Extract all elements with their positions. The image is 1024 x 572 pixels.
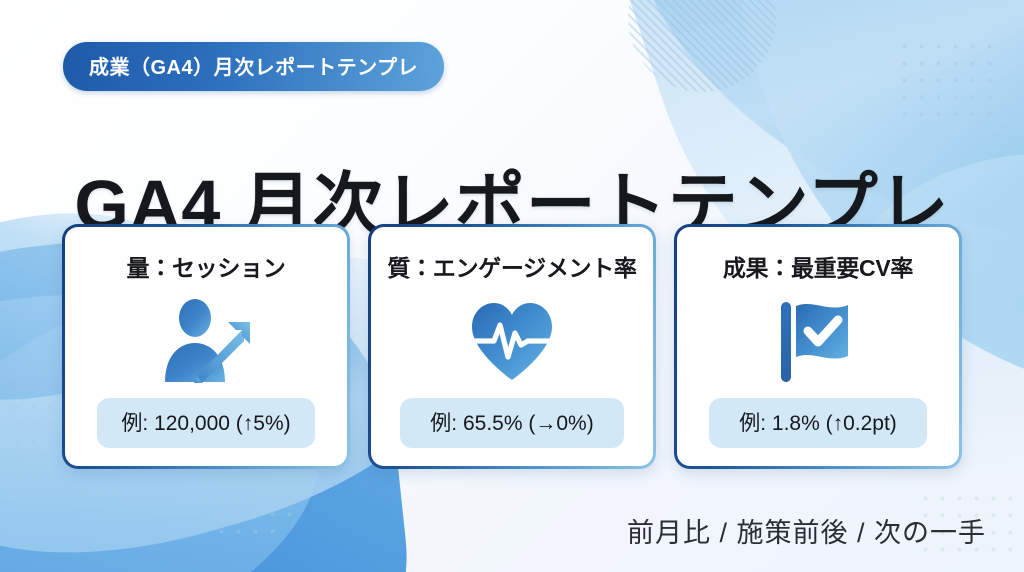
metric-card-value: 例: 120,000 (↑5%) [97, 398, 315, 448]
striped-circle-decoration [628, 0, 776, 92]
category-badge: 成業（GA4）月次レポートテンプレ [63, 42, 444, 91]
metric-card-body: 質：エンゲージメント率 例: 65.5 [371, 227, 653, 466]
metric-card-body: 成果：最重要CV率 [677, 227, 959, 466]
metric-card-value: 例: 1.8% (↑0.2pt) [709, 398, 927, 448]
dot-grid-top-right [896, 38, 996, 128]
metric-card-engagement[interactable]: 質：エンゲージメント率 例: 65.5 [368, 224, 656, 469]
metric-card-value: 例: 65.5% (→0%) [400, 398, 624, 448]
metric-card-title: 量：セッション [127, 249, 286, 283]
metric-card-body: 量：セッション [65, 227, 347, 466]
metric-card-row: 量：セッション [62, 224, 962, 469]
metric-card-cv-rate[interactable]: 成果：最重要CV率 [674, 224, 962, 469]
metric-card-sessions[interactable]: 量：セッション [62, 224, 350, 469]
metric-card-title: 質：エンゲージメント率 [387, 249, 636, 283]
person-growth-icon [79, 283, 333, 398]
heart-pulse-icon [385, 283, 639, 398]
flag-check-icon [691, 283, 945, 398]
slide-canvas: 成業（GA4）月次レポートテンプレ GA4 月次レポートテンプレ 量：セッション [0, 0, 1024, 572]
metric-card-title: 成果：最重要CV率 [723, 249, 913, 283]
footer-note: 前月比 / 施策前後 / 次の一手 [627, 511, 986, 550]
